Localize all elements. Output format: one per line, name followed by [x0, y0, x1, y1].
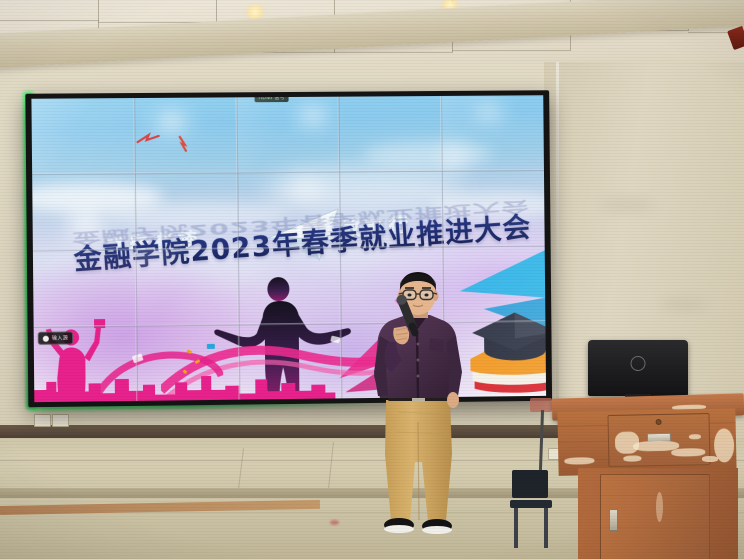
hand — [447, 392, 459, 408]
city-skyline-silhouette — [34, 358, 335, 402]
chair — [508, 470, 554, 550]
wooden-lectern[interactable] — [560, 352, 744, 559]
drawer-lock-icon — [656, 419, 662, 425]
bird-icon — [137, 132, 167, 148]
dell-logo-icon — [631, 356, 646, 371]
floor-mark — [330, 520, 339, 525]
presenter — [358, 272, 478, 542]
photo-scene: 青春有梦 勇敢前行 金融学院2023年春季就业推进大会 金融学院2023年春季就… — [0, 0, 744, 559]
osd-icon — [43, 335, 49, 341]
lectern-cabinet-door[interactable] — [600, 474, 710, 559]
osd-label: 输入源 — [52, 334, 68, 341]
desktop-monitor[interactable] — [588, 340, 688, 396]
wall-mark — [600, 200, 654, 210]
screen-osd-top-badge: HDMI 信号 — [255, 95, 289, 102]
bird-icon — [177, 134, 197, 154]
screen-osd-badge: 输入源 — [38, 331, 74, 344]
lectern-drawer[interactable] — [607, 413, 710, 467]
graduation-cap-icon — [470, 310, 546, 397]
wall-mark — [660, 300, 706, 309]
wall-outlet[interactable] — [52, 414, 69, 427]
wall-outlet[interactable] — [34, 414, 51, 427]
ceiling-light — [244, 4, 266, 20]
